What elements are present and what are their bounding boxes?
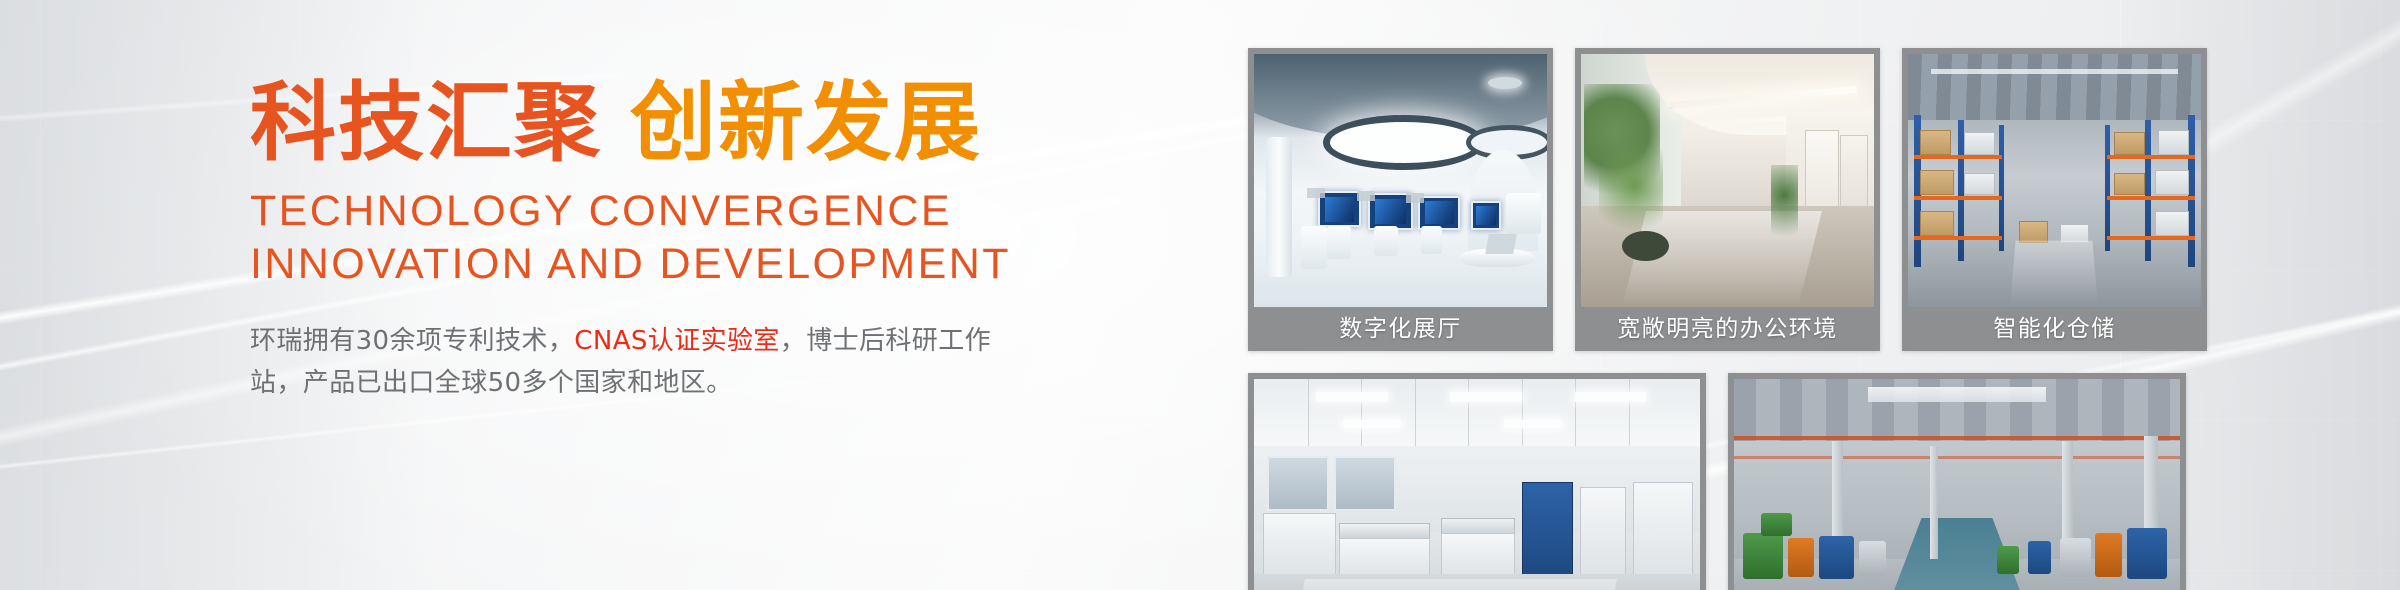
gallery-caption: 宽敞明亮的办公环境 xyxy=(1581,307,1874,351)
photo-production-line xyxy=(1734,379,2180,590)
photo-bright-office xyxy=(1581,54,1874,307)
gallery-row-bottom: 设备齐全的专业实验室 xyxy=(1248,373,2356,590)
photo-digital-showroom xyxy=(1254,54,1547,307)
english-line-1: TECHNOLOGY CONVERGENCE xyxy=(250,185,1200,237)
gallery-card-laboratory[interactable]: 设备齐全的专业实验室 xyxy=(1248,373,1706,590)
banner-english-subtitle: TECHNOLOGY CONVERGENCE INNOVATION AND DE… xyxy=(250,185,1200,290)
scene-laboratory xyxy=(1254,379,1700,590)
gallery-card-production-line[interactable]: 自动化生产线一角 xyxy=(1728,373,2186,590)
scene-digital-showroom xyxy=(1254,54,1547,307)
banner-description: 环瑞拥有30余项专利技术，CNAS认证实验室，博士后科研工作站，产品已出口全球5… xyxy=(250,320,1020,404)
gallery-card-smart-warehouse[interactable]: 智能化仓储 xyxy=(1902,48,2207,351)
gallery-row-top: 数字化展厅 宽敞明亮的办公环境 xyxy=(1248,48,2356,351)
gallery-caption: 数字化展厅 xyxy=(1254,307,1547,351)
description-highlight: CNAS认证实验室 xyxy=(574,326,780,356)
company-hero-banner: 科技汇聚创新发展 TECHNOLOGY CONVERGENCE INNOVATI… xyxy=(0,0,2400,590)
banner-copy-block: 科技汇聚创新发展 TECHNOLOGY CONVERGENCE INNOVATI… xyxy=(250,78,1200,430)
banner-headline: 科技汇聚创新发展 xyxy=(250,78,1200,169)
description-part-1: 环瑞拥有30余项专利技术， xyxy=(250,326,574,356)
gallery-card-digital-showroom[interactable]: 数字化展厅 xyxy=(1248,48,1553,351)
photo-smart-warehouse xyxy=(1908,54,2201,307)
photo-laboratory xyxy=(1254,379,1700,590)
headline-secondary: 创新发展 xyxy=(630,73,982,173)
gallery-card-bright-office[interactable]: 宽敞明亮的办公环境 xyxy=(1575,48,1880,351)
gallery-caption: 智能化仓储 xyxy=(1908,307,2201,351)
headline-primary: 科技汇聚 xyxy=(250,73,602,173)
english-line-2: INNOVATION AND DEVELOPMENT xyxy=(250,238,1200,290)
scene-production-line xyxy=(1734,379,2180,590)
scene-smart-warehouse xyxy=(1908,54,2201,307)
scene-bright-office xyxy=(1581,54,1874,307)
facility-photo-gallery: 数字化展厅 宽敞明亮的办公环境 xyxy=(1248,48,2356,590)
